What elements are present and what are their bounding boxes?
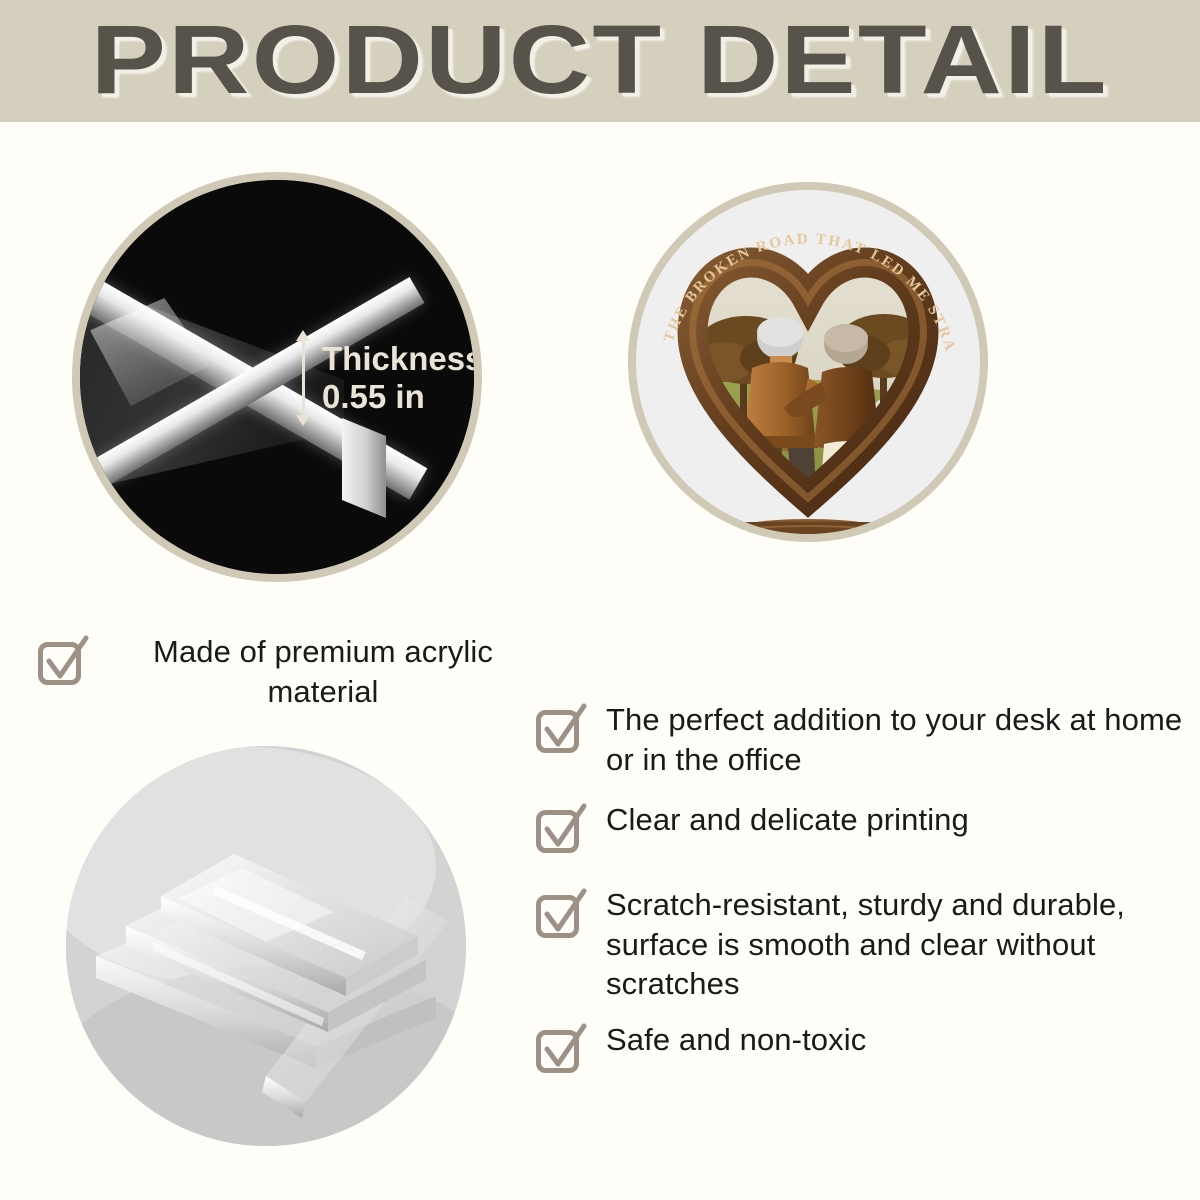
checkbox-checked-icon xyxy=(534,1022,588,1076)
thickness-label-line1: Thickness xyxy=(322,340,482,378)
feature-item-scratch-resistant: Scratch-resistant, sturdy and durable, s… xyxy=(534,885,1194,1004)
acrylic-sheets-stack-photo xyxy=(66,746,466,1146)
feature-label: Clear and delicate printing xyxy=(606,800,969,840)
feature-item-acrylic: Made of premium acrylic material xyxy=(36,632,546,711)
feature-item-desk: The perfect addition to your desk at hom… xyxy=(534,700,1194,779)
feature-label: Scratch-resistant, sturdy and durable, s… xyxy=(606,885,1194,1004)
thickness-label-line2: 0.55 in xyxy=(322,378,482,416)
feature-item-safe: Safe and non-toxic xyxy=(534,1020,1194,1076)
feature-label: The perfect addition to your desk at hom… xyxy=(606,700,1194,779)
heart-ornament-photo xyxy=(628,182,988,542)
page-title: PRODUCT DETAIL xyxy=(91,11,1109,108)
thickness-callout: Thickness 0.55 in xyxy=(296,330,482,426)
checkbox-checked-icon xyxy=(36,634,90,688)
thickness-label: Thickness 0.55 in xyxy=(322,340,482,417)
checkbox-checked-icon xyxy=(534,702,588,756)
checkbox-checked-icon xyxy=(534,887,588,941)
feature-label: Safe and non-toxic xyxy=(606,1020,866,1060)
checkbox-checked-icon xyxy=(534,802,588,856)
feature-item-printing: Clear and delicate printing xyxy=(534,800,1194,856)
header-band: PRODUCT DETAIL xyxy=(0,0,1200,122)
double-arrow-vertical-icon xyxy=(296,330,310,426)
feature-label: Made of premium acrylic material xyxy=(108,632,538,711)
acrylic-edge-closeup-photo: Thickness 0.55 in xyxy=(72,172,482,582)
